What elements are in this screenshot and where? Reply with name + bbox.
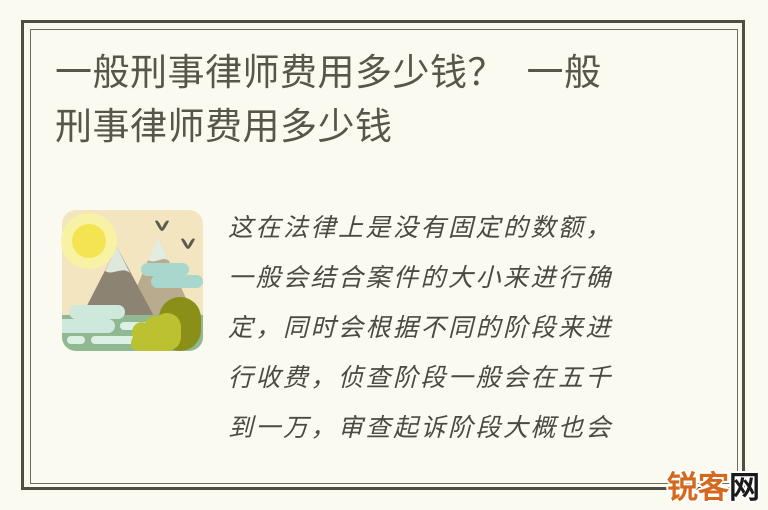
article-body-block: 这在法律上是没有固定的数额， 一般会结合案件的大小来进行确 定，同时会根据不同的… <box>55 203 715 453</box>
mountain-landscape-icon <box>55 203 210 358</box>
article-paragraph: 这在法律上是没有固定的数额， 一般会结合案件的大小来进行确 定，同时会根据不同的… <box>228 203 715 453</box>
page-title: 一般刑事律师费用多少钱？ 一般 刑事律师费用多少钱 <box>55 46 715 154</box>
article-content: 一般刑事律师费用多少钱？ 一般 刑事律师费用多少钱 <box>55 46 715 466</box>
sun-icon <box>61 213 117 269</box>
watermark-text-secondary: 网 <box>729 470 760 506</box>
mountain-landscape-svg <box>55 203 210 358</box>
site-watermark: 锐客网 <box>667 473 760 504</box>
watermark-text-primary: 锐客 <box>667 470 729 506</box>
